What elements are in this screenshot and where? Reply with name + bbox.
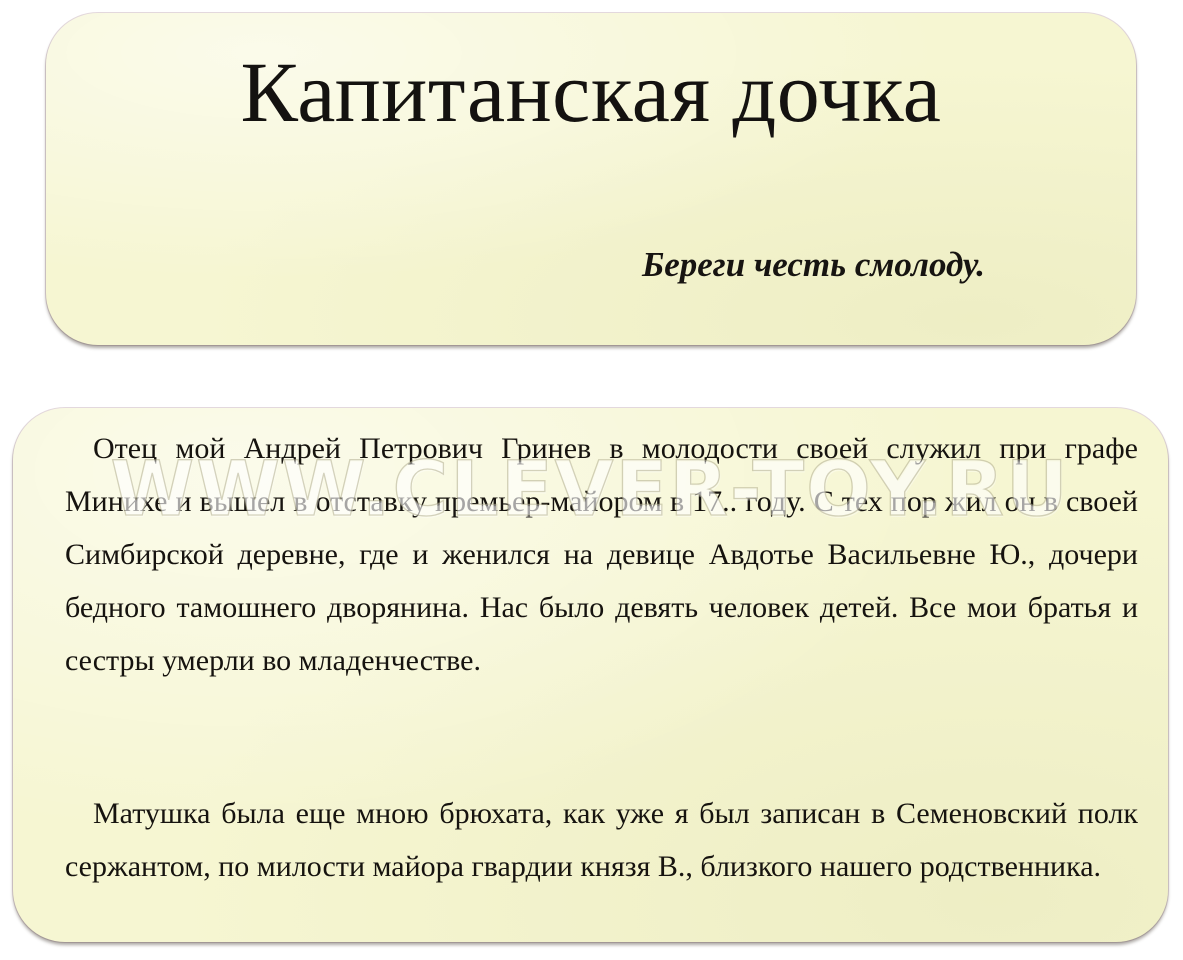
book-title: Капитанская дочка: [46, 49, 1136, 135]
body-text-card: Отец мой Андрей Петрович Гринев в молодо…: [13, 408, 1168, 942]
paragraph: Матушка была еще мною брюхата, как уже я…: [65, 787, 1138, 893]
title-card: Капитанская дочка Береги честь смолоду.: [46, 13, 1136, 345]
paragraph: Отец мой Андрей Петрович Гринев в молодо…: [65, 422, 1138, 687]
body-text-block: Отец мой Андрей Петрович Гринев в молодо…: [65, 422, 1138, 893]
book-epigraph: Береги честь смолоду.: [642, 245, 985, 285]
scanned-book-page: Капитанская дочка Береги честь смолоду. …: [0, 0, 1183, 960]
